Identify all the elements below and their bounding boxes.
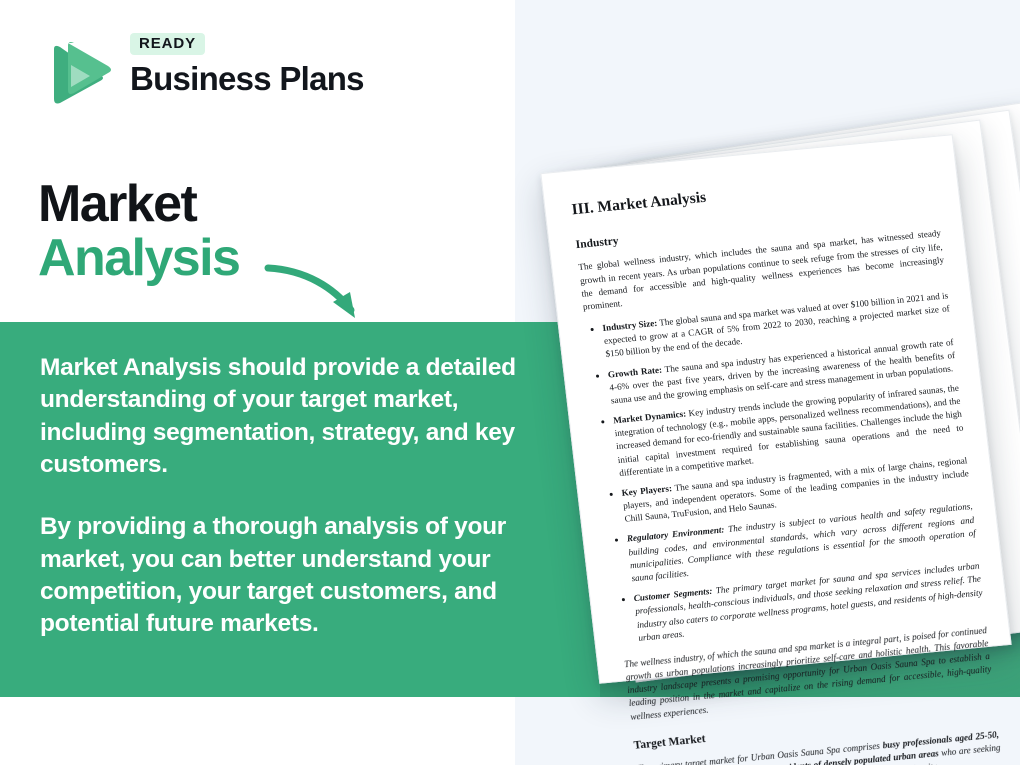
brand-wordmark: READY Business Plans — [130, 33, 360, 115]
title-line-1: Market — [38, 177, 468, 231]
document-bullet-list: Industry Size: The global sauna and spa … — [585, 289, 985, 646]
document-content: III. Market Analysis Industry The global… — [571, 167, 987, 664]
body-paragraph-1: Market Analysis should provide a detaile… — [40, 352, 552, 481]
slide-canvas: READY Business Plans Market Analysis Mar… — [0, 0, 1020, 765]
body-paragraph-2: By providing a thorough analysis of your… — [40, 511, 552, 640]
page-title: Market Analysis — [38, 177, 468, 286]
title-line-2: Analysis — [38, 231, 468, 286]
document-page-front: III. Market Analysis Industry The global… — [540, 134, 1011, 684]
ready-badge: READY — [130, 33, 205, 55]
play-triangle-logo-icon — [38, 35, 116, 113]
bullet-lead: Growth Rate: — [607, 364, 662, 379]
bullet-lead: Key Players: — [621, 483, 672, 498]
document-stack: III. Market Analysis Industry The global… — [515, 0, 1020, 765]
brand-logo[interactable]: READY Business Plans — [38, 33, 338, 115]
brand-name: Business Plans — [130, 62, 360, 97]
curved-arrow-down-right-icon — [262, 258, 378, 330]
body-copy: Market Analysis should provide a detaile… — [40, 352, 552, 641]
